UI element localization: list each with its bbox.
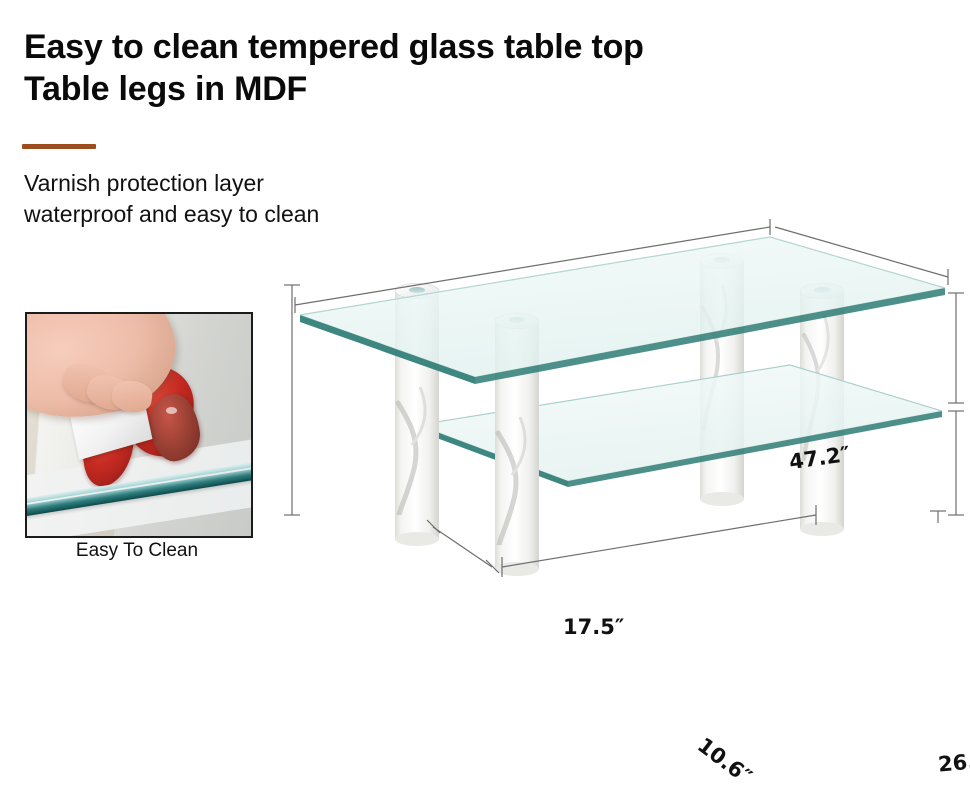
easy-to-clean-photo — [25, 312, 249, 534]
photo-caption: Easy To Clean — [25, 540, 249, 562]
dimension-label-total-height: 17.5″ — [563, 615, 624, 639]
table-diagram: 47.2″ 25.6″ 8.7″ 8.8″ 17.5″ 10.6″ 26.4″ — [270, 215, 970, 600]
accent-divider — [22, 144, 96, 149]
dimension-label-leg-span: 26.4″ — [937, 747, 970, 776]
photo-frame — [25, 312, 253, 538]
page-title: Easy to clean tempered glass table top T… — [24, 26, 924, 110]
sauce-highlight — [166, 407, 177, 414]
infographic-canvas: Easy to clean tempered glass table top T… — [0, 0, 970, 600]
table-illustration — [270, 215, 970, 600]
dimension-label-leg-depth: 10.6″ — [693, 733, 756, 789]
